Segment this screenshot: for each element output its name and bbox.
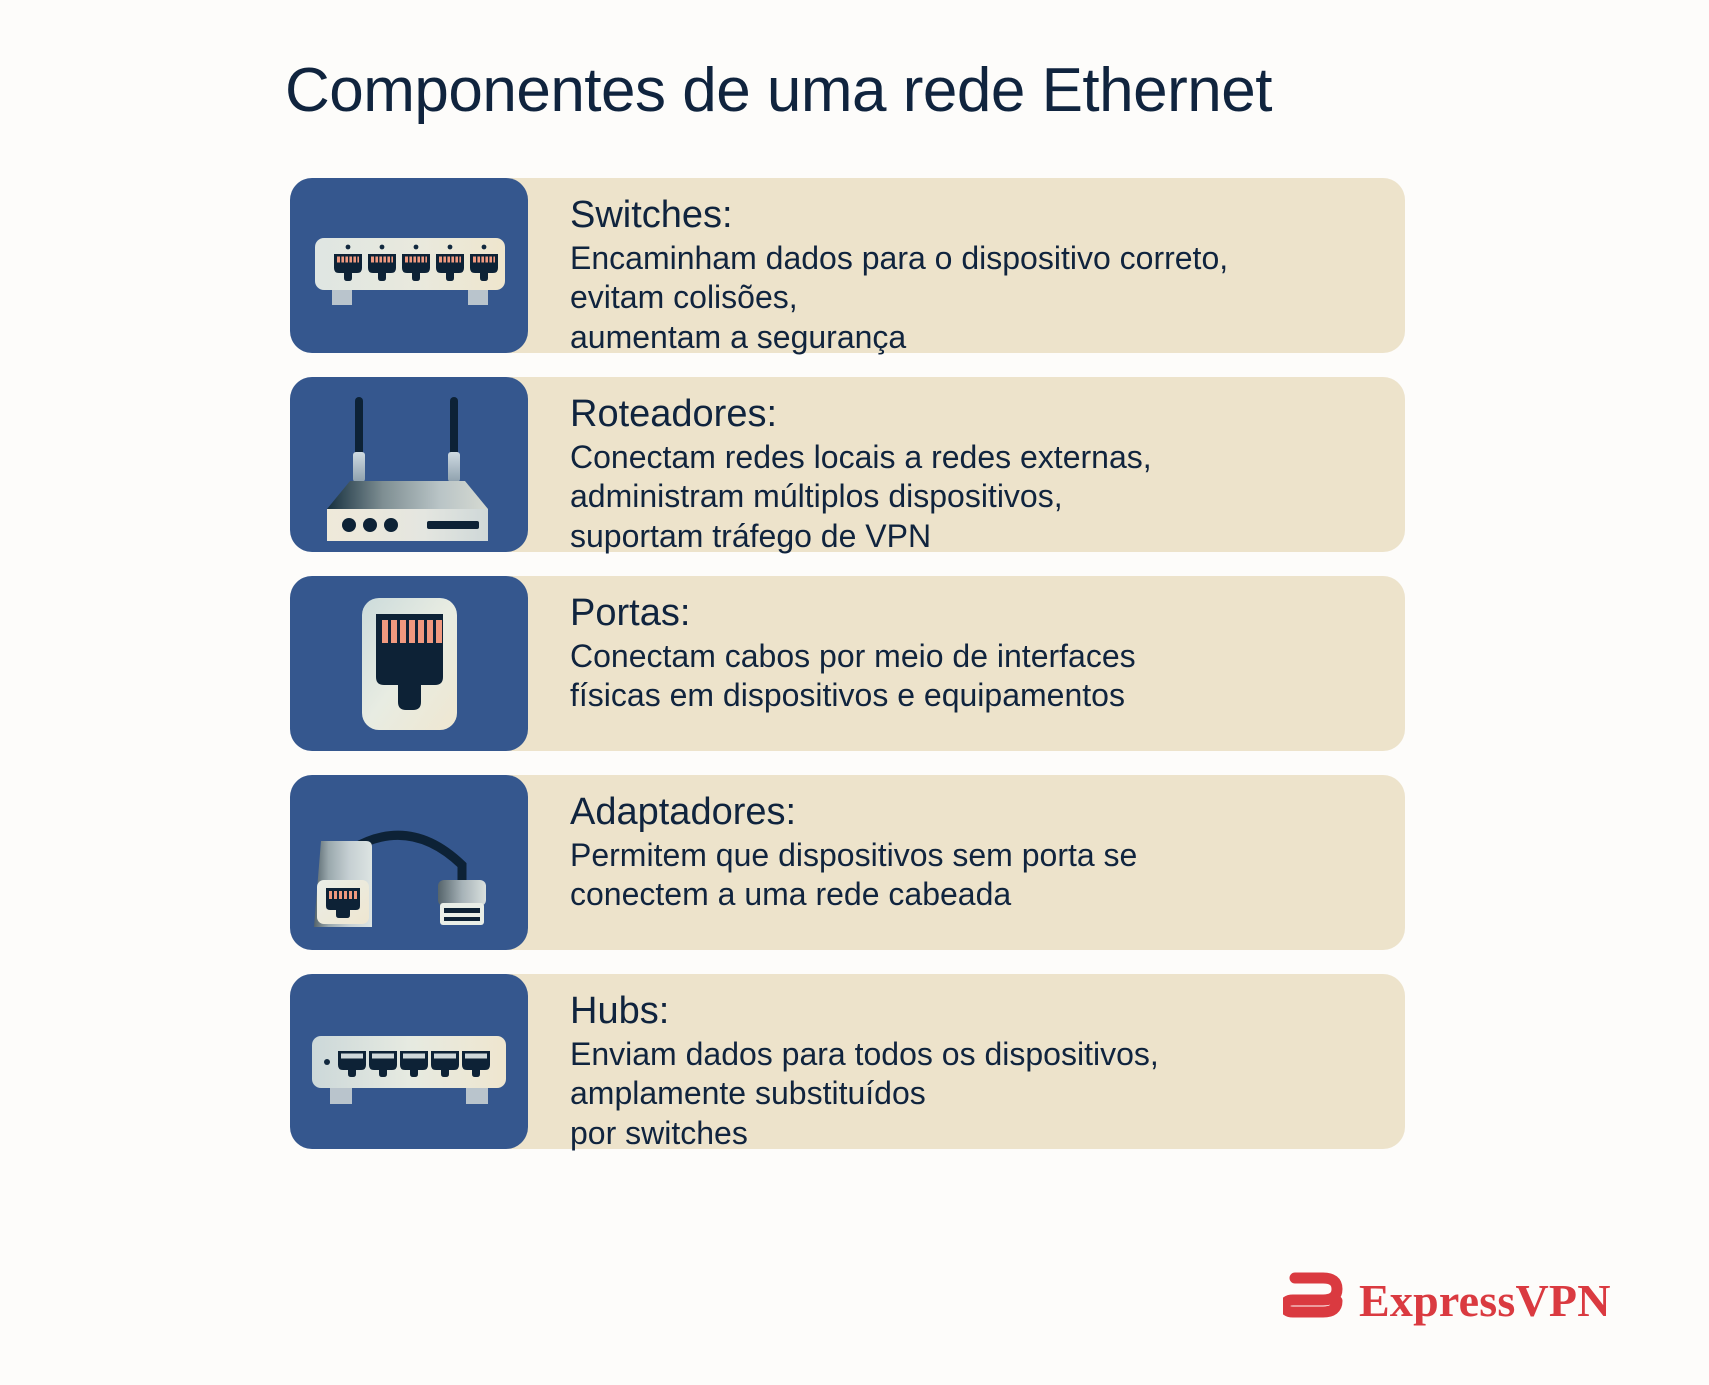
wifi-router-icon	[290, 377, 528, 552]
icon-box-ports	[290, 576, 528, 751]
expressvpn-logo-text: ExpressVPN	[1359, 1274, 1611, 1327]
list-item: Switches: Encaminham dados para o dispos…	[290, 178, 1405, 353]
list-item: Adaptadores: Permitem que dispositivos s…	[290, 775, 1405, 950]
icon-box-switches	[290, 178, 528, 353]
expressvpn-logo: ExpressVPN	[1283, 1272, 1611, 1328]
card-description: Enviam dados para todos os dispositivos,…	[570, 1035, 1375, 1153]
card-title: Adaptadores:	[570, 792, 1375, 833]
card-description: Conectam redes locais a redes externas, …	[570, 438, 1375, 556]
list-item: Hubs: Enviam dados para todos os disposi…	[290, 974, 1405, 1149]
icon-box-adapters	[290, 775, 528, 950]
expressvpn-logo-mark	[1283, 1272, 1345, 1328]
page-title: Componentes de uma rede Ethernet	[285, 55, 1272, 126]
list-item: Roteadores: Conectam redes locais a rede…	[290, 377, 1405, 552]
card-routers: Roteadores: Conectam redes locais a rede…	[410, 377, 1405, 552]
card-description: Encaminham dados para o dispositivo corr…	[570, 239, 1375, 357]
card-description: Conectam cabos por meio de interfaces fí…	[570, 637, 1375, 716]
card-description: Permitem que dispositivos sem porta se c…	[570, 836, 1375, 915]
ethernet-hub-icon	[290, 974, 528, 1149]
usb-ethernet-adapter-icon	[290, 775, 528, 950]
rj45-port-icon	[290, 576, 528, 751]
card-ports: Portas: Conectam cabos por meio de inter…	[410, 576, 1405, 751]
card-title: Roteadores:	[570, 394, 1375, 435]
card-hubs: Hubs: Enviam dados para todos os disposi…	[410, 974, 1405, 1149]
card-title: Portas:	[570, 593, 1375, 634]
ethernet-switch-icon	[290, 178, 528, 353]
card-switches: Switches: Encaminham dados para o dispos…	[410, 178, 1405, 353]
card-title: Hubs:	[570, 991, 1375, 1032]
card-title: Switches:	[570, 195, 1375, 236]
infographic-page: Componentes de uma rede Ethernet Switche…	[0, 0, 1709, 1385]
icon-box-routers	[290, 377, 528, 552]
card-adapters: Adaptadores: Permitem que dispositivos s…	[410, 775, 1405, 950]
list-item: Portas: Conectam cabos por meio de inter…	[290, 576, 1405, 751]
icon-box-hubs	[290, 974, 528, 1149]
component-list: Switches: Encaminham dados para o dispos…	[290, 178, 1405, 1173]
